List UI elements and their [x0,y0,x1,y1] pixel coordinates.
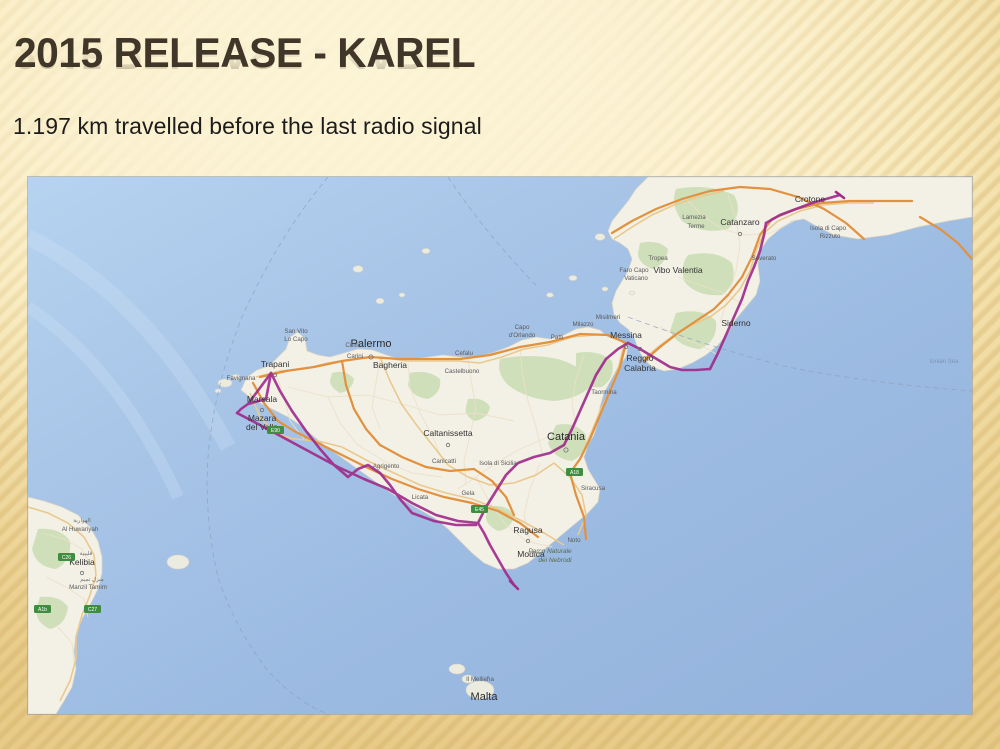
svg-text:A18: A18 [570,470,579,476]
label-il-mellieha: Il Mellieħa [466,676,494,683]
svg-text:A1b: A1b [38,607,47,613]
road-shield-c26: C26 [58,553,75,561]
label-san-vito-1: San Vito [284,328,308,335]
label-ragusa: Ragusa [513,525,543,535]
label-milazzo: Milazzo [573,321,595,328]
svg-text:C26: C26 [62,555,71,561]
map-canvas[interactable]: Palermo Catania Malta Trapani Marsala Ma… [28,177,972,714]
label-lamezia-2: Terme [687,223,705,230]
label-carini: Carini [347,353,363,360]
label-ionian-sea: Ionian Sea [930,359,959,365]
label-manzil-tamim-ar: منزل تميم [80,576,104,583]
road-shield-c27: C27 [84,605,101,613]
label-canicatti: Canicatti [432,458,456,465]
label-noto: Noto [567,537,581,544]
label-parco-nebrodi-2: dei Nebrodi [538,557,572,564]
label-catania: Catania [547,431,586,443]
road-shield-a18: A18 [566,468,583,476]
label-agrigento: Agrigento [373,463,400,470]
label-tropea: Tropea [648,255,668,262]
label-capo-dorlando-1: Capo [515,324,530,331]
subtitle-text: 1.197 km travelled before the last radio… [13,113,482,140]
label-misilmeri: Misilmeri [596,314,620,321]
label-taormina: Taormina [591,389,617,396]
label-gela: Gela [461,490,475,497]
label-castelbuono: Castelbuono [445,368,480,375]
label-lamezia-1: Lamezia [682,214,706,221]
label-crotone: Crotone [795,194,826,204]
label-soverato: Soverato [752,255,777,262]
label-kelibia-ar: قليبية [80,550,93,557]
label-malta: Malta [471,691,499,703]
road-shield-e90: E90 [267,426,284,434]
label-isola-capo-rizzuto-1: Isola di Capo [810,225,847,232]
label-caltanissetta: Caltanissetta [423,428,472,438]
slide-canvas: 2015 Release - Karel 2015 Release - Kare… [0,0,1000,749]
label-faro-capo-2: Vaticano [624,275,648,282]
label-marsala: Marsala [247,394,278,404]
label-isola-capo-rizzuto-2: Rizzuto [820,233,841,240]
label-cefalu: Cefalu [455,350,473,357]
road-shield-a1b: A1b [34,605,51,613]
label-san-vito-2: Lo Capo [284,336,308,343]
label-messina: Messina [610,330,642,340]
label-patti: Patti [551,334,563,341]
svg-text:E45: E45 [475,507,484,513]
label-reggio-1: Reggio [627,353,654,363]
label-favignana: Favignana [227,375,256,382]
label-cinisi: Cinisi [345,342,360,349]
label-siderno: Siderno [721,318,751,328]
label-manzil-tamim: Manzil Tamim [69,584,107,591]
map-container[interactable]: Palermo Catania Malta Trapani Marsala Ma… [28,177,972,714]
label-al-huwariyah: Al Huwariyah [62,526,99,533]
page-title: 2015 Release - Karel [14,30,790,76]
label-reggio-2: Calabria [624,363,656,373]
road-shield-e45: E45 [471,505,488,513]
svg-text:E90: E90 [271,428,280,434]
label-trapani: Trapani [261,359,290,369]
label-siracusa: Siracusa [581,485,606,492]
label-licata: Licata [412,494,429,501]
label-faro-capo-1: Faro Capo [619,267,649,274]
label-isola-di-sicilia: Isola di Sicilia [479,460,517,467]
label-parco-nebrodi-1: Parco Naturale [528,548,572,555]
label-vibo-valentia: Vibo Valentia [653,265,703,275]
label-al-huwariyah-ar: الهوارية [73,517,91,524]
svg-text:C27: C27 [88,607,97,613]
label-capo-dorlando-2: d'Orlando [509,332,536,339]
label-catanzaro: Catanzaro [720,217,759,227]
title-block: 2015 Release - Karel 2015 Release - Kare… [14,30,814,110]
label-bagheria: Bagheria [373,360,407,370]
